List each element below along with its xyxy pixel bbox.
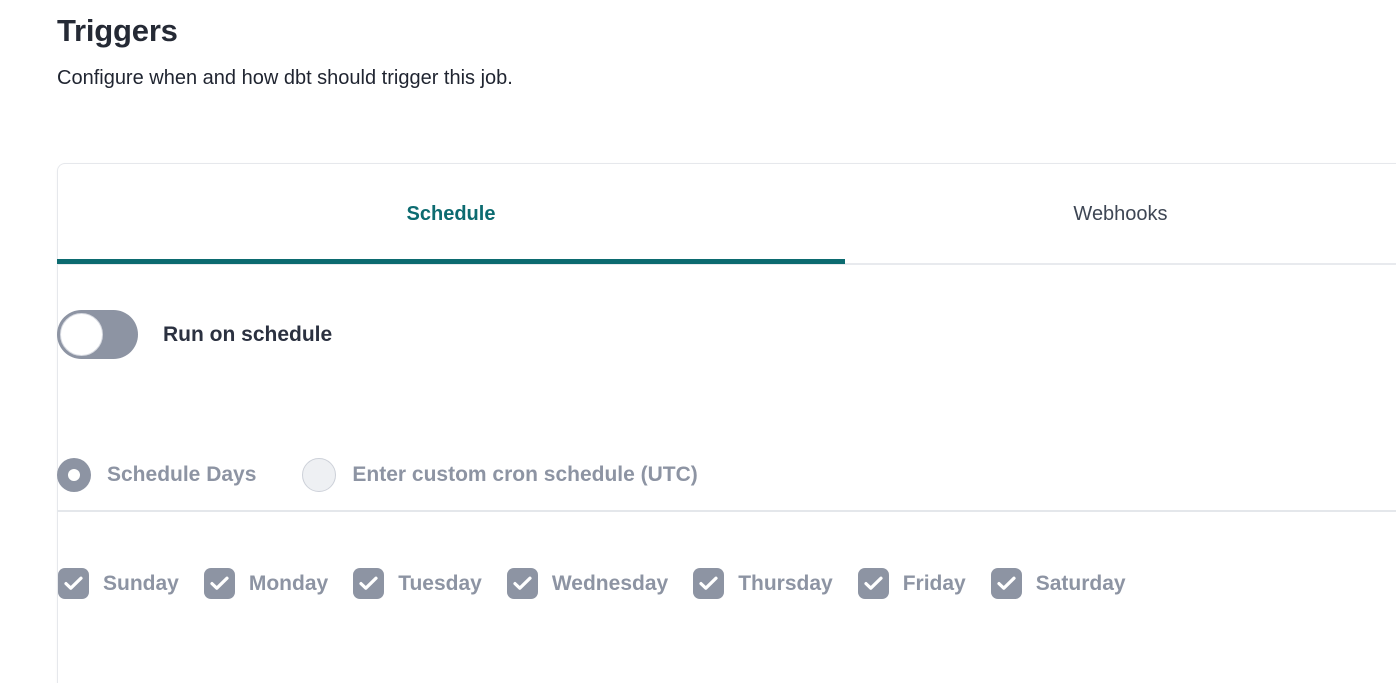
day-option-thursday[interactable]: Thursday (693, 568, 833, 599)
radio-unselected-icon (302, 458, 336, 492)
checkbox-checked-icon (858, 568, 889, 599)
day-option-wednesday[interactable]: Wednesday (507, 568, 668, 599)
day-option-tuesday[interactable]: Tuesday (353, 568, 482, 599)
day-option-saturday[interactable]: Saturday (991, 568, 1126, 599)
tab-webhooks[interactable]: Webhooks (845, 164, 1396, 263)
day-label-saturday: Saturday (1036, 570, 1126, 598)
page-header: Triggers Configure when and how dbt shou… (57, 10, 1257, 92)
tab-webhooks-label: Webhooks (1073, 201, 1167, 227)
day-option-friday[interactable]: Friday (858, 568, 966, 599)
day-option-sunday[interactable]: Sunday (58, 568, 179, 599)
day-label-sunday: Sunday (103, 570, 179, 598)
day-label-tuesday: Tuesday (398, 570, 482, 598)
checkbox-checked-icon (693, 568, 724, 599)
page-title: Triggers (57, 10, 1257, 52)
schedule-days-group: Sunday Monday Tuesday Wednesday Thursday (58, 568, 1126, 599)
radio-selected-icon (57, 458, 91, 492)
day-label-wednesday: Wednesday (552, 570, 668, 598)
checkbox-checked-icon (507, 568, 538, 599)
day-label-thursday: Thursday (738, 570, 833, 598)
tab-active-indicator (57, 259, 845, 264)
page-subtitle: Configure when and how dbt should trigge… (57, 52, 1257, 92)
run-on-schedule-toggle[interactable] (57, 310, 138, 359)
radio-option-custom-cron[interactable]: Enter custom cron schedule (UTC) (302, 458, 697, 492)
schedule-mode-radio-group: Schedule Days Enter custom cron schedule… (57, 458, 698, 492)
run-on-schedule-row: Run on schedule (57, 310, 332, 359)
radio-label-schedule-days: Schedule Days (107, 461, 256, 489)
radio-option-schedule-days[interactable]: Schedule Days (57, 458, 256, 492)
toggle-knob (60, 313, 103, 356)
tab-schedule[interactable]: Schedule (57, 164, 845, 263)
day-option-monday[interactable]: Monday (204, 568, 328, 599)
tab-schedule-label: Schedule (407, 201, 496, 227)
section-divider (57, 510, 1396, 512)
triggers-tabs: Schedule Webhooks (57, 164, 1396, 266)
radio-label-custom-cron: Enter custom cron schedule (UTC) (352, 461, 697, 489)
checkbox-checked-icon (204, 568, 235, 599)
checkbox-checked-icon (991, 568, 1022, 599)
triggers-page: Triggers Configure when and how dbt shou… (0, 0, 1396, 680)
run-on-schedule-label: Run on schedule (163, 321, 332, 349)
day-label-friday: Friday (903, 570, 966, 598)
day-label-monday: Monday (249, 570, 328, 598)
checkbox-checked-icon (353, 568, 384, 599)
checkbox-checked-icon (58, 568, 89, 599)
